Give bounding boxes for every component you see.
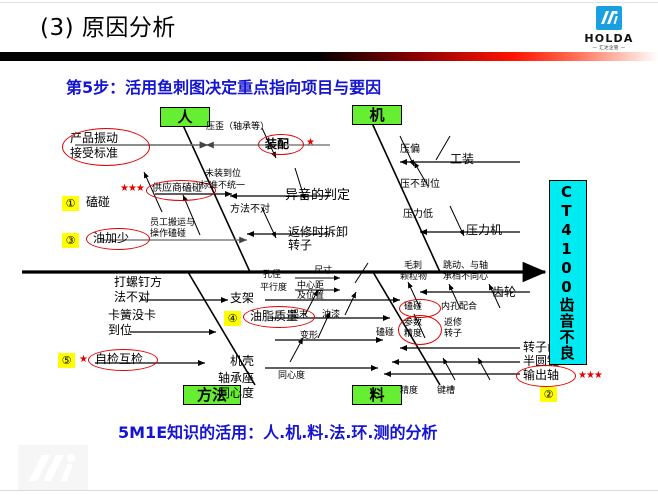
holda-logo-wordmark: HOLDA [572, 32, 646, 45]
cause-neikong-peihe: 内孔配合 [441, 303, 477, 312]
cause-canshu: 参数 [404, 319, 422, 328]
cause-yapian: 压偏 [400, 145, 420, 156]
cause-fanxiu-chaixie: 返修时拆卸 [288, 226, 348, 239]
cause-youzhi-zhiliang: 油脂质量 [250, 310, 298, 323]
cause-kepeng-ren: 磕碰 [86, 196, 110, 209]
cause-maoci: 毛刺 [404, 262, 422, 271]
effect-label: CT4100齿音不良 [549, 180, 585, 363]
cause-daluoding-1: 打螺钉方 [114, 276, 162, 289]
holda-logo: HOLDA — 汇达企管 — [572, 6, 646, 48]
cause-yaliji: 压力机 [466, 224, 502, 237]
cause-zhouchengzuo-1: 轴承座 [218, 372, 254, 385]
cause-tiaodong-2: 承档不同心 [443, 273, 488, 282]
priority-star-zijian: ★ [79, 354, 88, 365]
cause-jiancao: 键槽 [437, 387, 455, 396]
cause-zijian-hujian: 自检互检 [95, 353, 143, 366]
cause-yalidi: 压力低 [403, 210, 433, 221]
cause-kongjing: 孔径 [263, 271, 281, 280]
cause-tiaodong-1: 跳动、与轴 [443, 262, 488, 271]
cause-kelizhi: 颗粒物 [400, 273, 427, 282]
cause-fangfabudui-ren: 方法不对 [230, 205, 270, 216]
cause-kepeng-liao-left: 磕碰 [376, 329, 394, 338]
cause-jike: 机壳 [230, 355, 254, 368]
cause-jiweizhi: 及位置 [297, 292, 324, 301]
cause-zhuanzi: 转子 [288, 239, 312, 252]
category-box-ji: 机 [352, 105, 402, 125]
header-gradient-rule [0, 52, 658, 61]
cause-youjiashao: 油加少 [93, 232, 129, 245]
priority-chip-4: ④ [224, 311, 241, 326]
cause-yabudaowei: 压不到位 [400, 180, 440, 191]
cause-biaozhunbutongyi: 标准不统一 [200, 182, 245, 191]
cause-caozuo-kepeng: 操作磕碰 [150, 230, 186, 239]
cause-chilun: 齿轮 [492, 286, 516, 299]
cause-bianxing: 变形 [300, 332, 318, 341]
holda-logo-tagline: — 汇达企管 — [572, 45, 646, 51]
cause-yawai: 压歪（轴承等） [206, 123, 269, 132]
priority-chip-1: ① [62, 196, 79, 211]
priority-chip-2: ② [540, 387, 557, 402]
cause-chanpin-zhendong: 产品振动 [70, 132, 118, 145]
cause-gongyingshang-kepeng: 供应商磕碰 [152, 184, 202, 195]
cause-zhijia: 支架 [230, 292, 254, 305]
cause-pingxingdu: 平行度 [260, 284, 287, 293]
category-box-ren: 人 [160, 107, 210, 127]
cause-zhouchengzuo-2: 同心度 [218, 387, 254, 400]
bottom-divider [0, 490, 658, 491]
cause-fanxiu-zhuanzi-2: 转子 [444, 330, 462, 339]
cause-daluoding-2: 法不对 [114, 291, 150, 304]
cause-fanxiu-zhuanzi-1: 返修 [444, 319, 462, 328]
cause-zhuangpei: 装配 [265, 138, 289, 151]
category-box-liao: 料 [352, 385, 402, 405]
cause-youqi: 油漆 [322, 311, 340, 320]
cause-gongzhuang: 工装 [450, 153, 474, 166]
cause-kepeng-liao-right: 磕碰 [404, 303, 422, 312]
priority-chip-3: ③ [62, 233, 79, 248]
priority-stars-gongying: ★★★ [120, 183, 144, 194]
page-title: (3) 原因分析 [40, 8, 176, 42]
priority-chip-5: ⑤ [58, 353, 75, 368]
holda-logo-mark-icon [596, 6, 622, 30]
cause-kahuang-1: 卡簧没卡 [108, 309, 156, 322]
watermark-logo [18, 445, 88, 490]
priority-stars-shuchuzhou: ★★★ [578, 370, 602, 381]
cause-jieshou-biaozhun: 接受标准 [70, 147, 118, 160]
top-divider [0, 2, 658, 3]
cause-jingdu-liao: 精度 [400, 387, 418, 396]
step-title: 第5步：活用鱼刺图决定重点指向项目与要因 [66, 74, 381, 98]
cause-yiyin-pandng: 异音的判定 [285, 189, 350, 203]
slide-canvas: (3) 原因分析 HOLDA — 汇达企管 — 第5步：活用鱼刺图决定重点指向项… [0, 0, 658, 496]
cause-kahuang-2: 到位 [108, 324, 132, 337]
cause-tongxindu: 同心度 [278, 372, 305, 381]
cause-yuangong-banyun: 员工搬运与 [150, 219, 195, 228]
cause-chicun: 尺寸 [314, 267, 332, 276]
footer-note: 5M1E知识的活用：人.机.料.法.环.测的分析 [118, 419, 438, 443]
cause-shuchuzhou: 输出轴 [523, 369, 559, 382]
cause-jingdu-canshu: 精度 [404, 330, 422, 339]
cause-weizhuangdaowei: 未装到位 [205, 170, 241, 179]
priority-star-zhuangpei: ★ [306, 137, 315, 148]
